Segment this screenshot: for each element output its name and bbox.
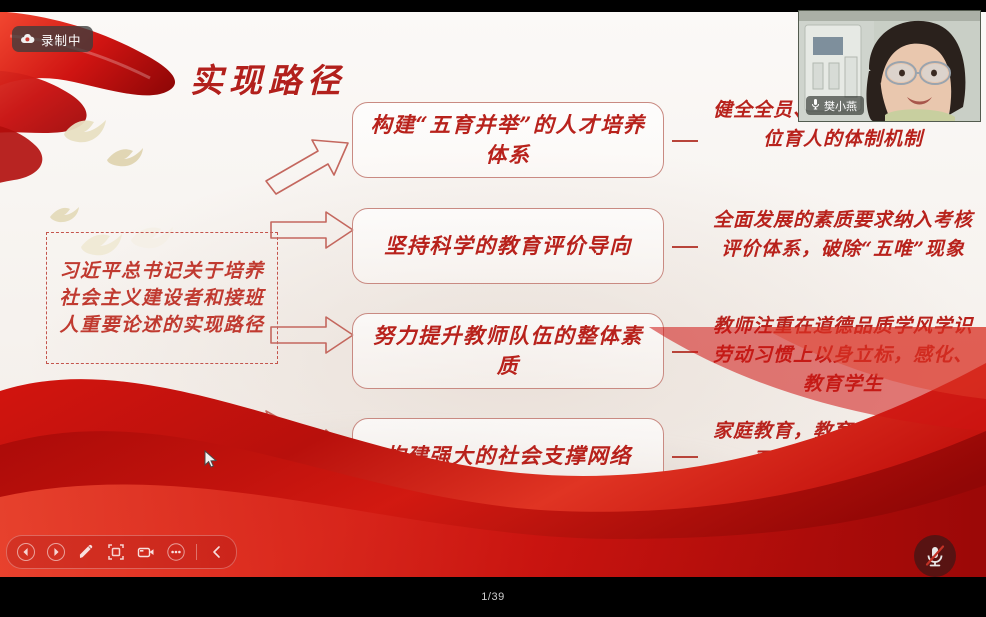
dove-icon	[48, 202, 82, 231]
cloud-recording-icon	[20, 32, 35, 47]
page-indicator: 1/39	[481, 591, 504, 603]
path-box-1: 构建“五育并举”的人才培养体系	[352, 102, 664, 178]
path-box-4-text: 构建强大的社会支撑网络	[384, 441, 632, 471]
recording-badge: 录制中	[12, 26, 93, 52]
mouse-cursor	[204, 450, 218, 474]
path-note-4: 家庭教育，教育、妇联等部门要统筹协调资源支持	[706, 417, 980, 475]
dove-icon	[105, 142, 147, 175]
slide-toolbar	[6, 535, 237, 569]
flow-arrow-icon	[262, 397, 358, 466]
connector-line-2	[672, 246, 698, 248]
connector-line-4	[672, 456, 698, 458]
microphone-icon	[811, 98, 820, 113]
path-box-2-text: 坚持科学的教育评价导向	[384, 231, 632, 261]
participant-video-tile[interactable]: 樊小燕	[798, 10, 981, 122]
participant-name-text: 樊小燕	[824, 98, 857, 114]
path-box-1-text: 构建“五育并举”的人才培养体系	[363, 110, 653, 170]
participant-name-badge: 樊小燕	[806, 96, 864, 115]
path-box-2: 坚持科学的教育评价导向	[352, 208, 664, 284]
source-statement-text: 习近平总书记关于培养社会主义建设者和接班人重要论述的实现路径	[56, 258, 268, 339]
path-note-2: 全面发展的素质要求纳入考核评价体系，破除“五唯”现象	[706, 206, 980, 264]
previous-slide-button[interactable]	[13, 539, 39, 565]
source-statement-box: 习近平总书记关于培养社会主义建设者和接班人重要论述的实现路径	[46, 232, 278, 364]
record-video-button[interactable]	[133, 539, 159, 565]
path-note-3: 教师注重在道德品质学风学识劳动习惯上以身立标，感化、教育学生	[706, 312, 980, 399]
flow-arrow-icon	[262, 135, 354, 202]
dove-icon	[60, 112, 110, 151]
path-box-3: 努力提升教师队伍的整体素质	[352, 313, 664, 389]
meeting-screen: 实现路径 习近平总书记关于培养社会主义建设者和接班人重要论述的实现路径 构建“五…	[0, 0, 986, 617]
screenshot-button[interactable]	[103, 539, 129, 565]
bottom-status-bar: 1/39	[0, 577, 986, 617]
next-slide-button[interactable]	[43, 539, 69, 565]
connector-line-3	[672, 351, 698, 353]
path-box-3-text: 努力提升教师队伍的整体素质	[363, 321, 653, 381]
more-options-button[interactable]	[163, 539, 189, 565]
mute-microphone-button[interactable]	[914, 535, 956, 577]
flow-arrow-icon	[268, 209, 356, 256]
annotate-button[interactable]	[73, 539, 99, 565]
path-box-4: 构建强大的社会支撑网络	[352, 418, 664, 494]
collapse-toolbar-button[interactable]	[204, 539, 230, 565]
connector-line-1	[672, 140, 698, 142]
flow-arrow-icon	[268, 314, 356, 361]
slide-title: 实现路径	[190, 54, 346, 102]
recording-label: 录制中	[41, 30, 82, 49]
microphone-muted-icon	[922, 543, 948, 569]
toolbar-divider	[196, 544, 197, 560]
